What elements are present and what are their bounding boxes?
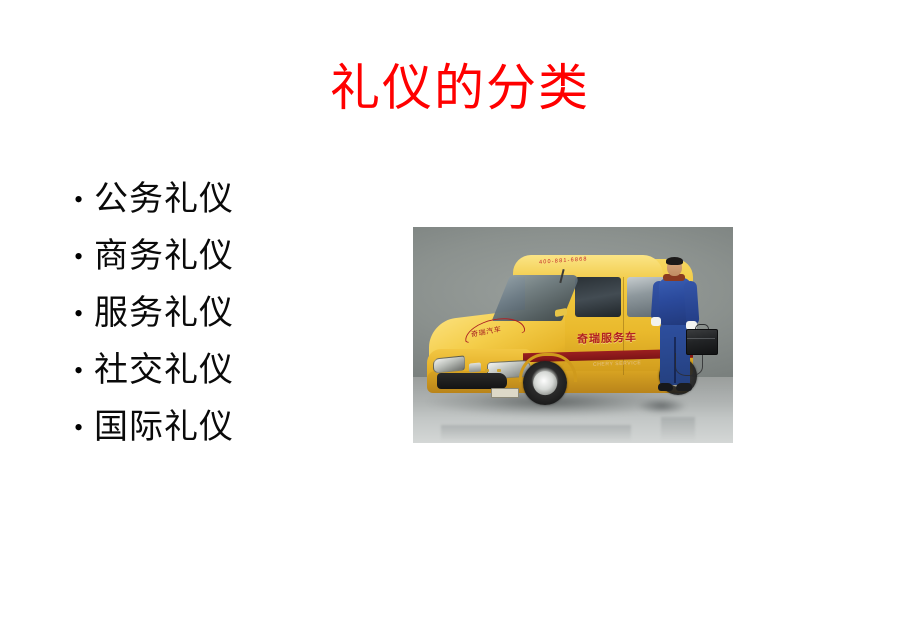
bullet-marker-icon: • <box>68 415 94 441</box>
list-item: • 国际礼仪 <box>68 399 388 456</box>
bullet-label: 社交礼仪 <box>94 351 234 391</box>
hose-coil <box>675 353 703 376</box>
bullet-marker-icon: • <box>68 244 94 270</box>
service-van-photo: 奇瑞服务车 CHERY SERVICE 400-881-6868 奇瑞汽车 <box>413 227 733 443</box>
van-bumper-sensor <box>497 369 501 372</box>
list-item: • 社交礼仪 <box>68 342 388 399</box>
technician-right-shoe <box>676 383 692 391</box>
van-floor-reflection <box>441 425 631 441</box>
technician <box>647 257 705 407</box>
technician-floor-reflection <box>661 417 695 441</box>
van-roof <box>513 255 663 277</box>
toolbox-seam <box>687 338 715 339</box>
technician-right-arm <box>683 281 699 326</box>
list-item: • 服务礼仪 <box>68 285 388 342</box>
technician-left-shoe <box>658 383 673 391</box>
toolbox <box>686 329 718 355</box>
van-front-badge <box>469 362 481 372</box>
van-side-window-front <box>575 277 621 317</box>
bullet-marker-icon: • <box>68 358 94 384</box>
wheel-hub <box>533 371 557 395</box>
list-item: • 商务礼仪 <box>68 228 388 285</box>
bullet-label: 商务礼仪 <box>94 237 234 277</box>
list-item: • 公务礼仪 <box>68 171 388 228</box>
slide: 礼仪的分类 • 公务礼仪 • 商务礼仪 • 服务礼仪 • 社交礼仪 • 国际礼仪 <box>0 0 920 636</box>
van-bumper-sensor <box>485 369 489 372</box>
technician-left-glove <box>651 317 661 326</box>
technician-hair <box>666 257 683 265</box>
bullet-marker-icon: • <box>68 187 94 213</box>
page-title: 礼仪的分类 <box>0 57 920 119</box>
van-license-plate <box>491 388 519 398</box>
bullet-list: • 公务礼仪 • 商务礼仪 • 服务礼仪 • 社交礼仪 • 国际礼仪 <box>68 171 388 456</box>
van-front-wheel <box>523 361 567 405</box>
bullet-label: 服务礼仪 <box>94 294 234 334</box>
photo-canvas: 奇瑞服务车 CHERY SERVICE 400-881-6868 奇瑞汽车 <box>413 227 733 443</box>
bullet-label: 国际礼仪 <box>94 408 234 448</box>
bullet-label: 公务礼仪 <box>94 180 234 220</box>
van-grille <box>437 373 507 389</box>
bullet-marker-icon: • <box>68 301 94 327</box>
